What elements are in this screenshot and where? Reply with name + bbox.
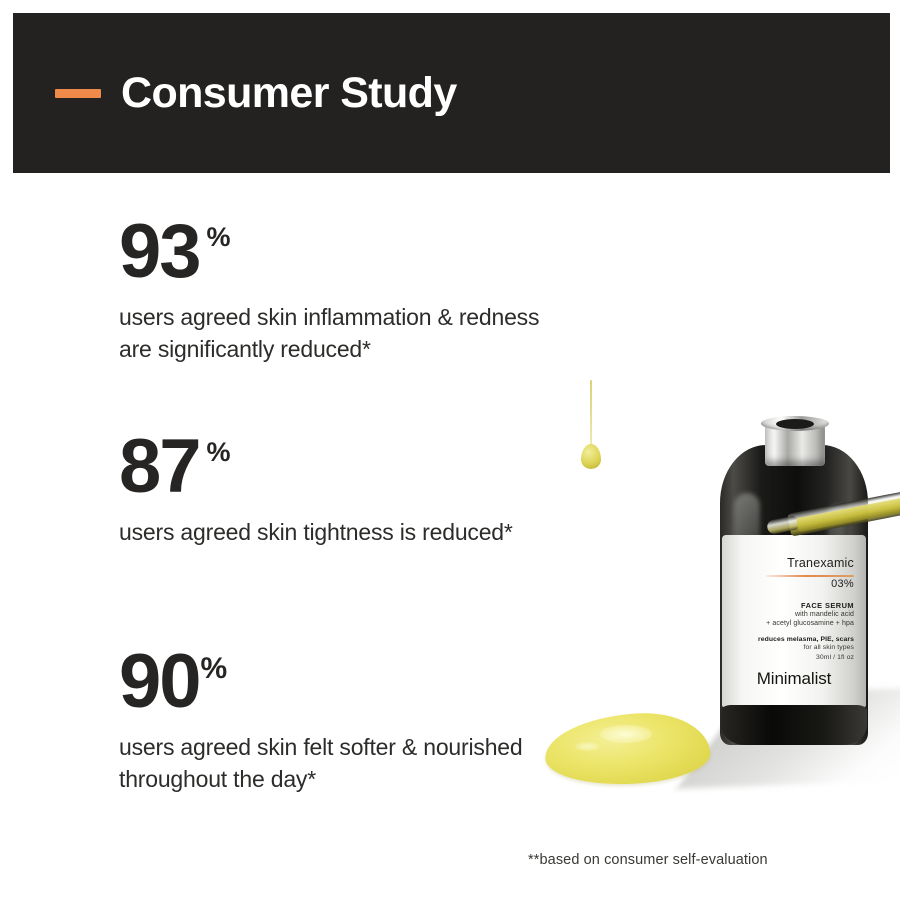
stat-description-3: users agreed skin felt softer & nourishe…	[119, 731, 569, 795]
stat-block-2: 87 % users agreed skin tightness is redu…	[119, 437, 513, 548]
stat-value-row-2: 87 %	[119, 437, 513, 496]
serum-bottle: Tranexamic 03% FACE SERUM with mandelic …	[720, 420, 868, 745]
label-accent-rule-icon	[766, 575, 854, 577]
footnote-text: **based on consumer self-evaluation	[528, 852, 768, 868]
stat-value-row-3: 90 %	[119, 652, 569, 711]
stat-description-2: users agreed skin tightness is reduced*	[119, 516, 513, 548]
bottle-neck-opening	[776, 419, 814, 429]
stat-value-2: 87	[119, 437, 200, 496]
serum-puddle-highlight-1	[600, 725, 652, 743]
stat-value-row-1: 93 %	[119, 222, 569, 281]
serum-drip-thread	[590, 380, 592, 452]
label-product-type: FACE SERUM	[732, 601, 854, 610]
stat-unit-1: %	[207, 224, 231, 251]
stat-unit-2: %	[207, 439, 231, 466]
serum-droplet	[581, 444, 601, 469]
stat-block-3: 90 % users agreed skin felt softer & nou…	[119, 652, 569, 795]
label-ingredient-line-2: + acetyl glucosamine + hpa	[732, 619, 854, 629]
label-strength: 03%	[732, 578, 854, 590]
bottle-label: Tranexamic 03% FACE SERUM with mandelic …	[722, 535, 866, 707]
label-volume: 30ml / 1fl oz	[732, 653, 854, 663]
consumer-study-infographic: Consumer Study 93 % users agreed skin in…	[0, 0, 900, 900]
label-claims: reduces melasma, PIE, scars	[732, 636, 854, 643]
stat-unit-3: %	[201, 654, 228, 684]
stat-description-1: users agreed skin inflammation & redness…	[119, 301, 569, 365]
stat-block-1: 93 % users agreed skin inflammation & re…	[119, 222, 569, 365]
header-bar: Consumer Study	[13, 13, 890, 173]
bottle-base	[721, 705, 867, 745]
stat-value-1: 93	[119, 222, 200, 281]
page-title: Consumer Study	[121, 72, 457, 115]
stat-value-3: 90	[119, 652, 200, 711]
label-ingredient-line-1: with mandelic acid	[732, 610, 854, 620]
accent-dash-icon	[55, 89, 101, 98]
label-skin-types: for all skin types	[732, 643, 854, 653]
label-brand-name: Minimalist	[722, 669, 866, 689]
label-product-name: Tranexamic	[732, 557, 854, 571]
serum-puddle-highlight-2	[575, 742, 599, 751]
product-photo: Tranexamic 03% FACE SERUM with mandelic …	[520, 270, 900, 790]
